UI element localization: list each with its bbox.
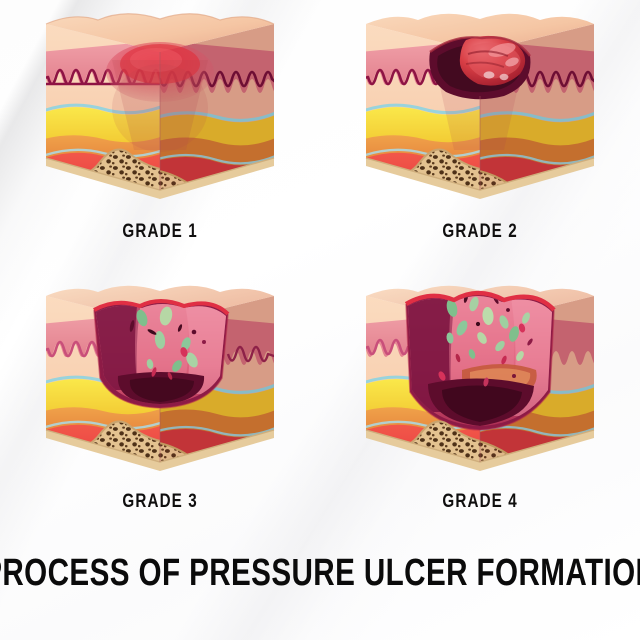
figure-caption-grade-3: GRADE 3	[122, 491, 197, 513]
skin-block-grade-2	[320, 0, 640, 215]
figure-caption-grade-4: GRADE 4	[442, 491, 517, 513]
title-bar: PROCESS OF PRESSURE ULCER FORMATION	[0, 534, 640, 640]
skin-block-grade-4	[320, 272, 640, 487]
skin-block-grade-1	[0, 0, 320, 215]
figure-grade-1: GRADE 1	[0, 0, 320, 272]
figure-grade-2: GRADE 2	[320, 0, 640, 272]
figure-grid: GRADE 1	[0, 0, 640, 640]
figure-caption-grade-1: GRADE 1	[122, 221, 197, 243]
wound-blister-grade-2	[429, 36, 530, 99]
illustration-canvas: GRADE 1	[0, 0, 640, 640]
page-title: PROCESS OF PRESSURE ULCER FORMATION	[0, 552, 640, 595]
skin-block-grade-3	[0, 272, 320, 487]
figure-grade-3: GRADE 3	[0, 272, 320, 534]
figure-grade-4: GRADE 4	[320, 272, 640, 534]
figure-caption-grade-2: GRADE 2	[442, 221, 517, 243]
